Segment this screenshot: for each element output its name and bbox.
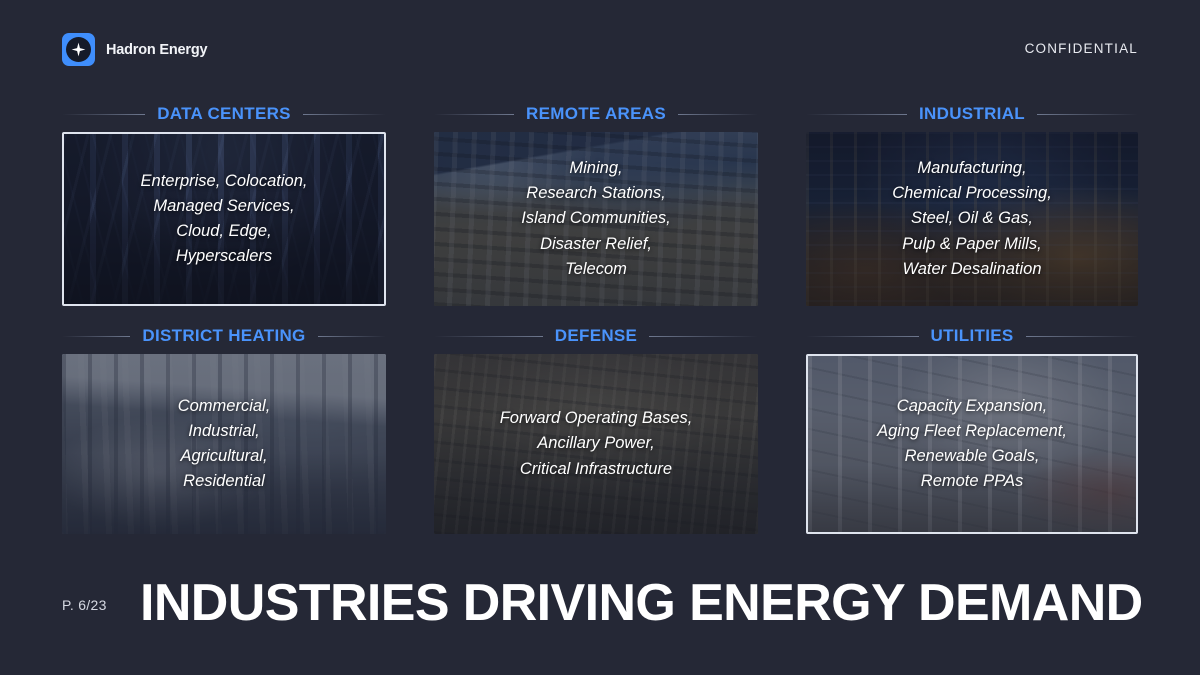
slide-title: INDUSTRIES DRIVING ENERGY DEMAND (140, 573, 1143, 633)
slide-footer: P. 6/23 INDUSTRIES DRIVING ENERGY DEMAND (0, 560, 1200, 675)
card-line: Commercial, (178, 394, 271, 419)
card-line: Residential (183, 469, 265, 494)
four-point-star-icon (71, 42, 86, 57)
card-caption-row: UTILITIES (806, 318, 1138, 354)
card-text-district-heating: Commercial, Industrial, Agricultural, Re… (62, 354, 386, 534)
industry-card-utilities[interactable]: Capacity Expansion, Aging Fleet Replacem… (806, 354, 1138, 534)
caption-rule-left (62, 336, 130, 337)
industry-card-industrial[interactable]: Manufacturing, Chemical Processing, Stee… (806, 132, 1138, 306)
card-caption-row: DISTRICT HEATING (62, 318, 386, 354)
card-text-utilities: Capacity Expansion, Aging Fleet Replacem… (808, 356, 1136, 532)
card-line: Water Desalination (902, 257, 1041, 282)
industry-card-grid: DATA CENTERS Enterprise, Colocation, Man… (62, 96, 1138, 534)
card-line: Hyperscalers (176, 244, 272, 269)
card-caption-district-heating: DISTRICT HEATING (142, 326, 305, 346)
card-line: Ancillary Power, (537, 431, 654, 456)
card-line: Mining, (569, 156, 622, 181)
caption-rule-left (62, 114, 145, 115)
card-line: Research Stations, (526, 181, 665, 206)
card-line: Enterprise, Colocation, (141, 169, 308, 194)
card-caption-row: DATA CENTERS (62, 96, 386, 132)
caption-rule-right (1026, 336, 1139, 337)
card-text-industrial: Manufacturing, Chemical Processing, Stee… (806, 132, 1138, 306)
card-line: Steel, Oil & Gas, (911, 206, 1033, 231)
card-line: Cloud, Edge, (176, 219, 271, 244)
card-caption-remote-areas: REMOTE AREAS (526, 104, 666, 124)
industry-cell-utilities: UTILITIES Capacity Expansion, Aging Flee… (806, 318, 1138, 534)
card-line: Disaster Relief, (540, 232, 652, 257)
card-caption-row: INDUSTRIAL (806, 96, 1138, 132)
brand-lockup: Hadron Energy (62, 33, 207, 66)
card-line: Chemical Processing, (892, 181, 1052, 206)
card-line: Critical Infrastructure (520, 457, 672, 482)
card-caption-utilities: UTILITIES (931, 326, 1014, 346)
card-caption-row: REMOTE AREAS (434, 96, 758, 132)
card-line: Manufacturing, (917, 156, 1026, 181)
card-line: Industrial, (188, 419, 260, 444)
card-line: Pulp & Paper Mills, (902, 232, 1041, 257)
confidential-label: CONFIDENTIAL (1025, 41, 1138, 56)
card-line: Forward Operating Bases, (500, 406, 693, 431)
caption-rule-right (678, 114, 758, 115)
card-caption-data-centers: DATA CENTERS (157, 104, 291, 124)
caption-rule-left (806, 114, 907, 115)
caption-rule-right (1037, 114, 1138, 115)
card-caption-row: DEFENSE (434, 318, 758, 354)
card-text-data-centers: Enterprise, Colocation, Managed Services… (64, 134, 384, 304)
industry-cell-defense: DEFENSE Forward Operating Bases, Ancilla… (434, 318, 758, 534)
slide-header: Hadron Energy CONFIDENTIAL (0, 0, 1200, 96)
industry-card-remote-areas[interactable]: Mining, Research Stations, Island Commun… (434, 132, 758, 306)
caption-rule-left (434, 336, 543, 337)
industry-cell-district-heating: DISTRICT HEATING Commercial, Industrial,… (62, 318, 386, 534)
card-line: Renewable Goals, (905, 444, 1040, 469)
industry-cell-data-centers: DATA CENTERS Enterprise, Colocation, Man… (62, 96, 386, 306)
card-line: Managed Services, (153, 194, 294, 219)
card-caption-defense: DEFENSE (555, 326, 637, 346)
card-text-remote-areas: Mining, Research Stations, Island Commun… (434, 132, 758, 306)
card-line: Island Communities, (521, 206, 670, 231)
industry-card-data-centers[interactable]: Enterprise, Colocation, Managed Services… (62, 132, 386, 306)
card-caption-industrial: INDUSTRIAL (919, 104, 1025, 124)
card-line: Aging Fleet Replacement, (877, 419, 1067, 444)
industry-card-defense[interactable]: Forward Operating Bases, Ancillary Power… (434, 354, 758, 534)
industry-cell-remote-areas: REMOTE AREAS Mining, Research Stations, … (434, 96, 758, 306)
card-line: Capacity Expansion, (897, 394, 1047, 419)
caption-rule-left (434, 114, 514, 115)
caption-rule-left (806, 336, 919, 337)
card-line: Agricultural, (180, 444, 267, 469)
card-line: Telecom (565, 257, 627, 282)
card-line: Remote PPAs (921, 469, 1023, 494)
industry-cell-industrial: INDUSTRIAL Manufacturing, Chemical Proce… (806, 96, 1138, 306)
logo-mark (62, 33, 95, 66)
logo-inner-circle (66, 37, 91, 62)
caption-rule-right (303, 114, 386, 115)
page-number: P. 6/23 (62, 597, 107, 613)
caption-rule-right (649, 336, 758, 337)
brand-name: Hadron Energy (106, 42, 207, 58)
industry-card-district-heating[interactable]: Commercial, Industrial, Agricultural, Re… (62, 354, 386, 534)
caption-rule-right (318, 336, 386, 337)
card-text-defense: Forward Operating Bases, Ancillary Power… (434, 354, 758, 534)
